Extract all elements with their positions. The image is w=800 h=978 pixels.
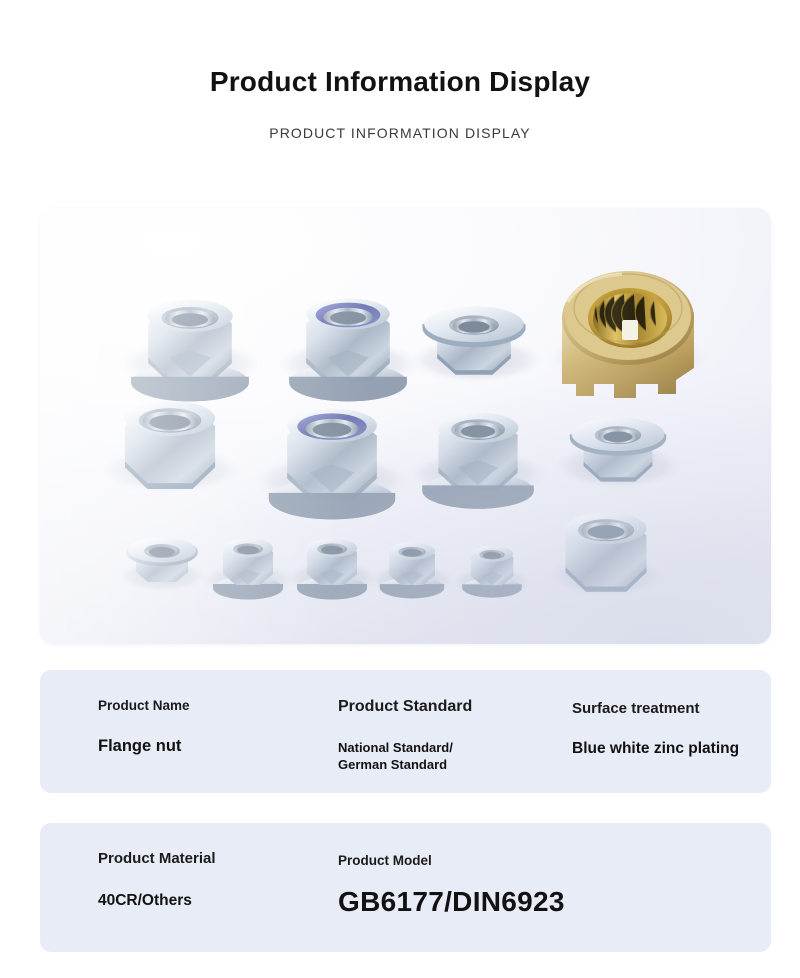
spec-value-product-material: 40CR/Others xyxy=(98,892,192,911)
page-subtitle: PRODUCT INFORMATION DISPLAY xyxy=(0,125,800,141)
spec-card-primary: Product Name Flange nut Product Standard… xyxy=(40,670,771,793)
product-info-page: Product Information Display PRODUCT INFO… xyxy=(0,0,800,978)
spec-cell-product-name: Product Name Flange nut xyxy=(98,698,190,714)
spec-cell-surface-treatment: Surface treatment Blue white zinc platin… xyxy=(572,700,700,718)
spec-card-secondary: Product Material 40CR/Others Product Mod… xyxy=(40,823,771,952)
nut-row1-item2-nylon xyxy=(289,298,407,401)
spec-label-product-material: Product Material xyxy=(98,850,216,868)
nut-row3-item4 xyxy=(380,542,444,598)
spec-label-surface-treatment: Surface treatment xyxy=(572,700,700,718)
nut-row1-item4-brass xyxy=(562,271,694,398)
nut-row3-item2 xyxy=(213,539,283,600)
nut-row3-item5 xyxy=(462,546,522,598)
page-title: Product Information Display xyxy=(0,66,800,98)
nut-row3-item6-hex xyxy=(566,513,647,592)
page-header: Product Information Display PRODUCT INFO… xyxy=(0,0,800,141)
spec-value-product-name: Flange nut xyxy=(98,737,181,757)
product-photo-image xyxy=(40,208,771,644)
nut-row1-item1 xyxy=(131,300,249,402)
nut-row2-item2-nylon xyxy=(269,409,395,520)
spec-cell-product-model: Product Model GB6177/DIN6923 xyxy=(338,853,432,869)
product-photo-panel xyxy=(40,208,771,644)
nut-row2-item1-hex xyxy=(125,401,215,489)
nut-row2-item3 xyxy=(422,413,534,509)
spec-label-product-model: Product Model xyxy=(338,853,432,869)
spec-label-product-standard: Product Standard xyxy=(338,698,472,717)
spec-value-product-model: GB6177/DIN6923 xyxy=(338,885,565,919)
spec-value-product-standard: National Standard/ German Standard xyxy=(338,739,453,773)
nut-row3-item3 xyxy=(297,539,367,600)
spec-label-product-name: Product Name xyxy=(98,698,190,714)
spec-cell-product-material: Product Material 40CR/Others xyxy=(98,850,216,868)
spec-cell-product-standard: Product Standard National Standard/ Germ… xyxy=(338,698,472,717)
spec-value-surface-treatment: Blue white zinc plating xyxy=(572,740,739,759)
